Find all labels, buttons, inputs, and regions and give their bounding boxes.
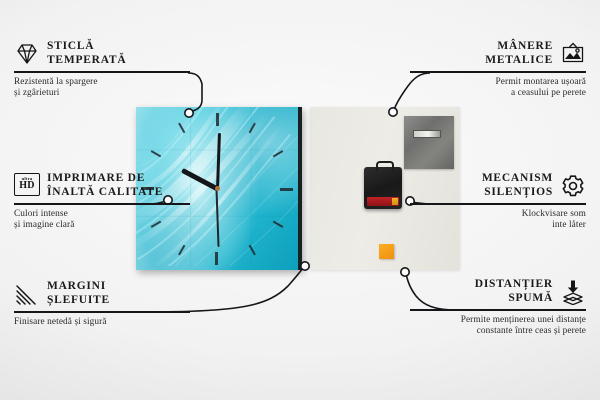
callout-polished-edges: MARGINI ȘLEFUITE Finisare netedă și sigu… <box>14 280 190 328</box>
callout-foam-spacer: DISTANȚIER SPUMĂ Permite menținerea unei… <box>410 278 586 338</box>
foam-spacer-piece <box>379 244 394 259</box>
gear-icon <box>560 173 586 199</box>
battery <box>367 197 399 206</box>
callout-subtitle: Permit montarea ușoară a ceasului pe per… <box>410 77 586 100</box>
divider <box>14 71 190 73</box>
ultra-hd-icon: ultra HD <box>14 173 40 199</box>
infographic-canvas: STICLĂ TEMPERATĂ Rezistentă la spargere … <box>0 0 600 400</box>
callout-title: MECANISM SILENȚIOS <box>482 172 553 199</box>
diamond-icon <box>14 41 40 67</box>
callout-subtitle: Culori intense și imagine clară <box>14 209 190 232</box>
callout-title: MÂNERE METALICE <box>485 40 553 67</box>
callout-tempered-glass: STICLĂ TEMPERATĂ Rezistentă la spargere … <box>14 40 190 100</box>
callout-subtitle: Finisare netedă și sigură <box>14 317 190 329</box>
arrow-onto-layers-icon <box>560 279 586 305</box>
callout-title: STICLĂ TEMPERATĂ <box>47 40 126 67</box>
divider <box>410 203 586 205</box>
callout-head: MECANISM SILENȚIOS <box>410 172 586 199</box>
callout-subtitle: Permite menținerea unei distanțe constan… <box>410 315 586 338</box>
callout-subtitle: Rezistentă la spargere și zgârieturi <box>14 77 190 100</box>
callout-high-quality-print: ultra HD IMPRIMARE DE ÎNALTĂ CALITATE Cu… <box>14 172 190 232</box>
tick-mark <box>217 188 293 190</box>
callout-title: IMPRIMARE DE ÎNALTĂ CALITATE <box>47 172 163 199</box>
callout-metal-handles: MÂNERE METALICE Permit montarea ușoară a… <box>410 40 586 100</box>
callout-title: MARGINI ȘLEFUITE <box>47 280 110 307</box>
callout-title: DISTANȚIER SPUMĂ <box>475 278 553 305</box>
divider <box>410 309 586 311</box>
callout-silent-mechanism: MECANISM SILENȚIOS Klockvisare som inte … <box>410 172 586 232</box>
callout-head: MÂNERE METALICE <box>410 40 586 67</box>
metal-hanger-plate <box>404 116 454 169</box>
callout-head: STICLĂ TEMPERATĂ <box>14 40 190 67</box>
clock-center-pivot <box>215 186 220 191</box>
quartz-clock-mechanism <box>364 167 402 209</box>
callout-head: MARGINI ȘLEFUITE <box>14 280 190 307</box>
callout-head: DISTANȚIER SPUMĂ <box>410 278 586 305</box>
divider <box>14 311 190 313</box>
callout-head: ultra HD IMPRIMARE DE ÎNALTĂ CALITATE <box>14 172 190 199</box>
beveled-edge-icon <box>14 281 40 307</box>
picture-hanger-icon <box>560 41 586 67</box>
callout-subtitle: Klockvisare som inte låter <box>410 209 586 232</box>
divider <box>410 71 586 73</box>
divider <box>14 203 190 205</box>
